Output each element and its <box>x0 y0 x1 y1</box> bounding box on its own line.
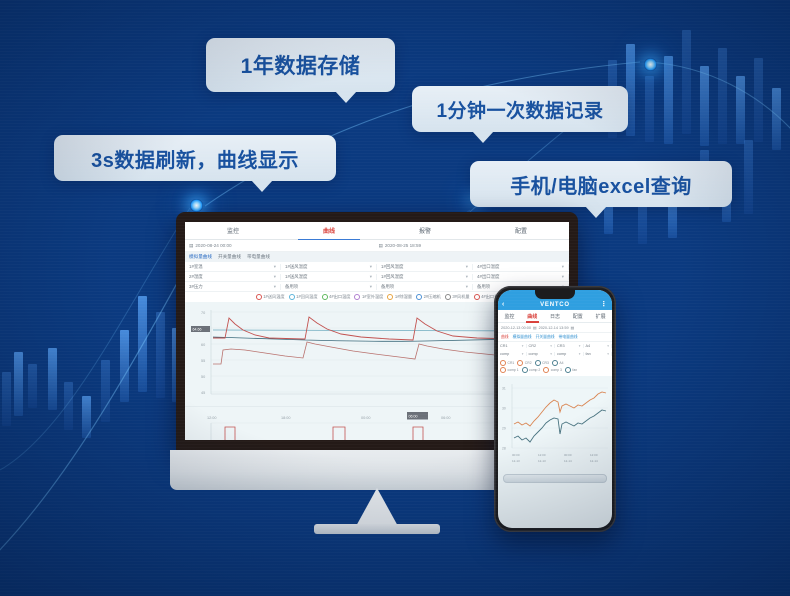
callout-refresh-text: 3s数据刷新，曲线显示 <box>91 144 299 173</box>
chevron-down-icon: ▾ <box>562 264 564 270</box>
calendar-icon[interactable]: ▤ <box>571 325 575 330</box>
x-tick: 12-14 <box>590 459 598 463</box>
legend-label: comp 1 <box>508 368 519 372</box>
legend-marker <box>500 360 506 366</box>
chevron-down-icon: ▾ <box>370 284 372 290</box>
label: CR1 <box>500 344 508 348</box>
legend-marker <box>552 360 558 366</box>
phone-chart-legend[interactable]: CR1 CR2 CR3 A4 comp 1 comp 2 comp 3 fan <box>498 358 612 376</box>
legend-item[interactable]: 1#除湿量 <box>387 294 412 300</box>
label: fan <box>586 352 591 356</box>
legend-marker <box>322 294 328 300</box>
monitor-select-c2[interactable]: 备用项▾ <box>281 284 377 290</box>
legend-marker <box>517 360 523 366</box>
callout-storage: 1年数据存储 <box>206 38 395 92</box>
legend-item[interactable]: CR3 <box>535 360 549 366</box>
monitor-tab-curves[interactable]: 曲线 <box>281 222 377 239</box>
phone-chart-svg: 31 30 29 28 00:0012-13 12:0012-13 00:001… <box>498 376 612 468</box>
legend-item[interactable]: 1#室外温度 <box>354 294 383 300</box>
legend-marker <box>387 294 393 300</box>
callout-refresh: 3s数据刷新，曲线显示 <box>54 135 336 181</box>
label: A4 <box>586 344 591 348</box>
x-tick: 06:00 <box>441 416 451 420</box>
legend-marker <box>445 294 451 300</box>
x-tick: 12-13 <box>512 459 520 463</box>
callout-storage-text: 1年数据存储 <box>241 50 361 80</box>
phone-screen[interactable]: ‹ VENTCO ⋮ 监控 曲线 日志 配置 扩展 2020-12-13 00:… <box>498 290 612 528</box>
monitor-date-start: 2020-08-24 00:00 <box>195 243 231 248</box>
phone-subtab-power[interactable]: 带电量曲线 <box>559 335 578 340</box>
phone-chart-scrollbar[interactable] <box>503 474 607 483</box>
phone-tab-bar[interactable]: 监控 曲线 日志 配置 扩展 <box>498 310 612 323</box>
label: 3#压力 <box>189 284 203 290</box>
monitor-select-c3[interactable]: 备用项▾ <box>377 284 473 290</box>
phone-select-cr3[interactable]: CR3▾ <box>555 344 584 348</box>
phone-tab-config[interactable]: 配置 <box>566 313 589 320</box>
phone-tab-monitoring[interactable]: 监控 <box>498 313 521 320</box>
legend-label: A4 <box>559 361 563 365</box>
legend-item[interactable]: fan <box>565 367 577 373</box>
legend-marker <box>535 360 541 366</box>
calendar-icon: ▤ <box>379 243 383 249</box>
monitor-date-range[interactable]: ▤ 2020-08-24 00:00 ▤ 2020-08-25 18:59 <box>185 240 569 252</box>
monitor-date-start-field[interactable]: ▤ 2020-08-24 00:00 <box>189 243 376 249</box>
phone-tab-extend[interactable]: 扩展 <box>589 313 612 320</box>
legend-marker <box>354 294 360 300</box>
chevron-down-icon: ▾ <box>522 344 524 348</box>
label: 4#出口湿度 <box>477 274 499 280</box>
phone-selector-row[interactable]: CR1▾ CR2▾ CR3▾ A4▾ <box>498 342 612 350</box>
monitor-date-end-field[interactable]: ▤ 2020-08-25 18:59 <box>379 243 566 249</box>
monitor-subtab-digital[interactable]: 开关量曲线 <box>218 254 241 260</box>
legend-label: 1#送风温度 <box>263 294 284 300</box>
legend-marker <box>289 294 295 300</box>
callout-tail <box>335 91 357 103</box>
chevron-down-icon: ▾ <box>274 264 276 270</box>
legend-marker <box>256 294 262 300</box>
glow-node-left <box>190 199 203 212</box>
monitor-selector-row[interactable]: 2#湿度▾ 1#送风湿度▾ 1#回风湿度▾ 4#出口湿度▾ <box>185 272 569 282</box>
phone-tab-logs[interactable]: 日志 <box>544 313 567 320</box>
legend-marker <box>543 367 549 373</box>
chevron-down-icon: ▾ <box>550 344 552 348</box>
chevron-down-icon: ▾ <box>550 352 552 356</box>
monitor-subtab-bar[interactable]: 模拟量曲线 开关量曲线 带电量曲线 <box>185 252 569 262</box>
phone-select-a4[interactable]: A4▾ <box>584 344 613 348</box>
label: comp <box>500 352 509 356</box>
phone-select-comp1[interactable]: comp▾ <box>498 352 527 356</box>
calendar-icon: ▤ <box>189 243 193 249</box>
phone-select-fan[interactable]: fan▾ <box>584 352 613 356</box>
legend-label: CR1 <box>508 361 515 365</box>
label: CR3 <box>557 344 565 348</box>
chevron-down-icon: ▾ <box>274 284 276 290</box>
callout-tail <box>585 206 607 218</box>
chevron-down-icon: ▾ <box>466 274 468 280</box>
monitor-select-a2[interactable]: 1#送风温度▾ <box>281 264 377 270</box>
legend-item[interactable]: 3#风机量 <box>445 294 470 300</box>
label: 1#送风温度 <box>285 264 307 270</box>
phone-date-start: 2020-12-13 00:00 <box>501 326 531 330</box>
chevron-down-icon: ▾ <box>579 352 581 356</box>
legend-marker <box>565 367 571 373</box>
label: 备用项 <box>477 284 490 290</box>
label: 2#湿度 <box>189 274 203 280</box>
legend-marker <box>522 367 528 373</box>
chevron-down-icon: ▾ <box>274 274 276 280</box>
phone-app-title: VENTCO <box>540 302 570 308</box>
callout-tail <box>472 131 494 143</box>
monitor-date-end: 2020-08-25 18:59 <box>385 243 421 248</box>
chevron-down-icon: ▾ <box>370 264 372 270</box>
svg-text:55: 55 <box>201 359 205 363</box>
phone-select-comp2[interactable]: comp▾ <box>527 352 556 356</box>
legend-marker <box>474 294 480 300</box>
legend-item[interactable]: 1#送风温度 <box>256 294 285 300</box>
callout-interval: 1分钟一次数据记录 <box>412 86 628 132</box>
legend-label: comp 3 <box>551 368 562 372</box>
legend-item[interactable]: comp 1 <box>500 367 519 373</box>
legend-label: 2#压缩机 <box>424 294 441 300</box>
svg-text:06:00: 06:00 <box>409 415 418 419</box>
x-tick: 18:00 <box>281 416 291 420</box>
monitor-select-a3[interactable]: 1#回风温度▾ <box>377 264 473 270</box>
chevron-down-icon: ▾ <box>522 352 524 356</box>
monitor-subtab-power[interactable]: 带电量曲线 <box>247 254 270 260</box>
x-tick: 00:00 <box>512 453 520 457</box>
phone-select-cr2[interactable]: CR2▾ <box>527 344 556 348</box>
legend-item[interactable]: 1#回风温度 <box>289 294 318 300</box>
monitor-selector-row[interactable]: 1#室温▾ 1#送风温度▾ 1#回风温度▾ 4#出口温度▾ <box>185 262 569 272</box>
x-tick: 00:00 <box>361 416 371 420</box>
legend-label: CR2 <box>525 361 532 365</box>
phone-notch <box>535 290 575 299</box>
svg-text:64.66: 64.66 <box>193 328 202 332</box>
svg-text:70: 70 <box>201 311 205 315</box>
legend-label: 1#回风温度 <box>296 294 317 300</box>
legend-item[interactable]: 2#压缩机 <box>416 294 441 300</box>
y-tick: 30 <box>502 407 506 411</box>
svg-text:45: 45 <box>201 391 205 395</box>
phone-tab-curves[interactable]: 曲线 <box>521 313 544 320</box>
legend-label: 1#除湿量 <box>395 294 412 300</box>
svg-text:60: 60 <box>201 343 205 347</box>
x-tick: 12:00 <box>538 453 546 457</box>
monitor-select-b2[interactable]: 1#送风湿度▾ <box>281 274 377 280</box>
legend-item[interactable]: CR1 <box>500 360 514 366</box>
phone-select-cr1[interactable]: CR1▾ <box>498 344 527 348</box>
label: 1#回风温度 <box>381 264 403 270</box>
chevron-down-icon: ▾ <box>466 264 468 270</box>
chevron-down-icon: ▾ <box>607 352 609 356</box>
callout-interval-text: 1分钟一次数据记录 <box>436 96 603 123</box>
label: 1#送风湿度 <box>285 274 307 280</box>
monitor-stand-neck <box>355 488 399 528</box>
glow-node-right <box>644 58 657 71</box>
x-tick: 12-14 <box>564 459 572 463</box>
monitor-select-a4[interactable]: 4#出口温度▾ <box>473 264 569 270</box>
label: 备用项 <box>381 284 394 290</box>
monitor-tab-monitoring[interactable]: 监控 <box>185 222 281 239</box>
chevron-down-icon: ▾ <box>562 274 564 280</box>
chevron-down-icon: ▾ <box>579 344 581 348</box>
x-tick: 12:00 <box>590 453 598 457</box>
legend-marker <box>416 294 422 300</box>
monitor-tab-config[interactable]: 配置 <box>473 222 569 239</box>
calendar-icon[interactable]: ▤ <box>533 325 537 330</box>
callout-tail <box>251 180 273 192</box>
legend-row: CR1 CR2 CR3 A4 <box>500 360 610 366</box>
legend-marker <box>500 367 506 373</box>
monitor-stand-base <box>314 524 440 534</box>
legend-label: fan <box>572 368 577 372</box>
monitor-select-c1[interactable]: 3#压力▾ <box>185 284 281 290</box>
phone-date-end: 2020-12-14 13:59 <box>539 326 569 330</box>
phone-subtab-digital[interactable]: 开关量曲线 <box>536 335 555 340</box>
y-tick: 29 <box>502 427 506 431</box>
legend-label: 1#室外温度 <box>362 294 383 300</box>
phone-subtab-bar[interactable]: 曲线 模拟量曲线 开关量曲线 带电量曲线 <box>498 333 612 342</box>
phone-date-range[interactable]: 2020-12-13 00:00 ▤ 2020-12-14 13:59 ▤ <box>498 323 612 333</box>
x-tick: 12-13 <box>538 459 546 463</box>
legend-label: comp 2 <box>529 368 540 372</box>
y-tick: 31 <box>502 387 506 391</box>
chevron-left-icon[interactable]: ‹ <box>502 301 505 308</box>
legend-label: 3#风机量 <box>452 294 469 300</box>
label: 4#出口温度 <box>477 264 499 270</box>
svg-text:50: 50 <box>201 375 205 379</box>
x-tick: 12:00 <box>207 416 217 420</box>
chevron-down-icon: ▾ <box>607 344 609 348</box>
chevron-down-icon: ▾ <box>370 274 372 280</box>
label: 1#室温 <box>189 264 203 270</box>
label: 1#回风湿度 <box>381 274 403 280</box>
legend-item[interactable]: CR2 <box>517 360 531 366</box>
monitor-tab-bar[interactable]: 监控 曲线 报警 配置 <box>185 222 569 240</box>
label: CR2 <box>529 344 537 348</box>
monitor-subtab-analog[interactable]: 模拟量曲线 <box>189 254 212 260</box>
label: comp <box>557 352 566 356</box>
legend-item[interactable]: A4 <box>552 360 564 366</box>
legend-item[interactable]: comp 2 <box>522 367 541 373</box>
phone-selector-row[interactable]: comp▾ comp▾ comp▾ fan▾ <box>498 350 612 358</box>
phone-chart[interactable]: 31 30 29 28 00:0012-13 12:0012-13 00:001… <box>498 376 612 468</box>
legend-row: comp 1 comp 2 comp 3 fan <box>500 367 610 373</box>
more-icon[interactable]: ⋮ <box>600 300 608 308</box>
label: 备用项 <box>285 284 298 290</box>
monitor-select-b1[interactable]: 2#湿度▾ <box>185 274 281 280</box>
legend-label: 4#出口温度 <box>329 294 350 300</box>
chevron-down-icon: ▾ <box>466 284 468 290</box>
callout-query-text: 手机/电脑excel查询 <box>510 170 692 199</box>
phone-select-comp3[interactable]: comp▾ <box>555 352 584 356</box>
legend-item[interactable]: 4#出口温度 <box>322 294 351 300</box>
legend-label: CR3 <box>542 361 549 365</box>
phone-subtab-analog[interactable]: 模拟量曲线 <box>513 335 532 340</box>
x-tick: 00:00 <box>564 453 572 457</box>
monitor-select-b4[interactable]: 4#出口湿度▾ <box>473 274 569 280</box>
monitor-select-b3[interactable]: 1#回风湿度▾ <box>377 274 473 280</box>
y-tick: 28 <box>502 447 506 451</box>
phone-subtab-curves[interactable]: 曲线 <box>501 335 509 340</box>
poster-canvas: 1年数据存储 1分钟一次数据记录 3s数据刷新，曲线显示 手机/电脑excel查… <box>0 0 790 596</box>
legend-item[interactable]: comp 3 <box>543 367 562 373</box>
monitor-select-a1[interactable]: 1#室温▾ <box>185 264 281 270</box>
smartphone: ‹ VENTCO ⋮ 监控 曲线 日志 配置 扩展 2020-12-13 00:… <box>494 286 616 532</box>
label: comp <box>529 352 538 356</box>
monitor-tab-alarms[interactable]: 报警 <box>377 222 473 239</box>
callout-query: 手机/电脑excel查询 <box>470 161 732 207</box>
